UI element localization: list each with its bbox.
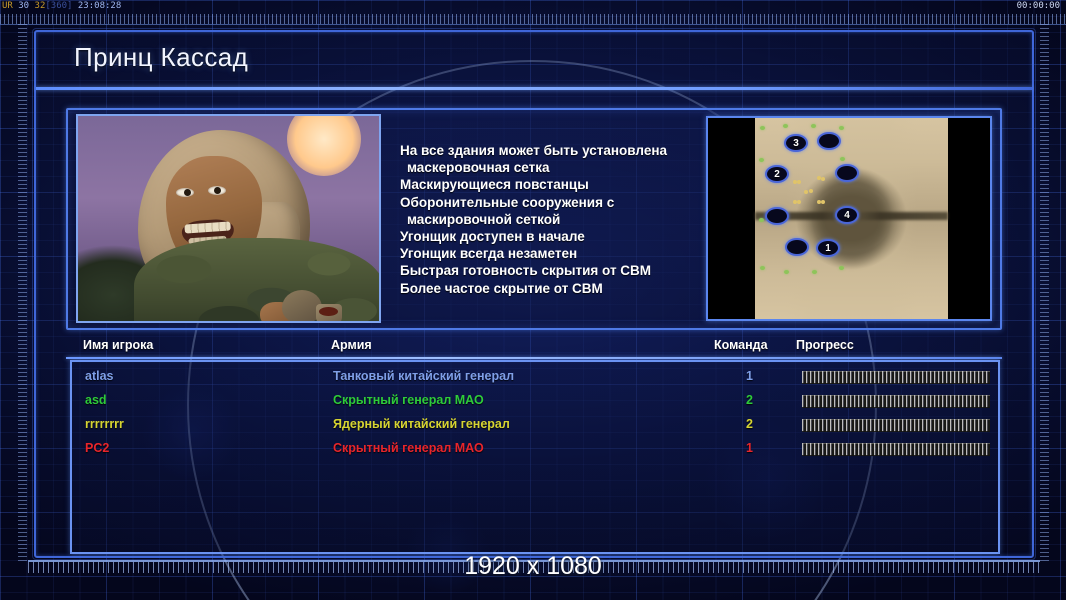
- minimap-start-position: 3: [784, 134, 808, 152]
- player-progress-bar: [802, 419, 990, 432]
- game-lobby-screen: UR 30 32[360] 23:08:28 00:00:00 Принц Ка…: [0, 0, 1066, 600]
- player-army: Танковый китайский генерал: [333, 369, 514, 383]
- minimap-preview: 3241: [706, 116, 992, 321]
- minimap-supply-marker: [840, 157, 845, 161]
- minimap-supply-marker: [812, 270, 817, 274]
- minimap-oil-marker: [797, 180, 801, 184]
- minimap-supply-marker: [811, 124, 816, 128]
- player-team: 2: [746, 417, 753, 431]
- column-header-team: Команда: [714, 338, 768, 352]
- general-portrait: [76, 114, 381, 323]
- description-line: На все здания может быть установлена: [400, 142, 700, 159]
- column-header-army: Армия: [331, 338, 372, 352]
- minimap-supply-marker: [839, 266, 844, 270]
- minimap-supply-marker: [759, 218, 764, 222]
- minimap-start-position: 1: [816, 239, 840, 257]
- resolution-label: 1920 x 1080: [0, 552, 1066, 581]
- title-underline: [36, 87, 1032, 90]
- minimap-supply-marker: [760, 266, 765, 270]
- general-description: На все здания может быть установленамаск…: [400, 142, 700, 297]
- player-name: asd: [85, 393, 107, 407]
- pupil-right: [214, 187, 221, 194]
- minimap-supply-marker: [783, 124, 788, 128]
- description-line: Маскирующиеся повстанцы: [400, 176, 700, 193]
- hud-clock: 23:08:28: [78, 1, 121, 11]
- minimap-oil-marker: [821, 177, 825, 181]
- description-line: Угонщик всегда незаметен: [400, 245, 700, 262]
- header-underline: [66, 357, 1002, 359]
- minimap-supply-marker: [784, 270, 789, 274]
- minimap-terrain: 3241: [755, 118, 948, 319]
- hud-timer-right: 00:00:00: [1017, 1, 1060, 11]
- minimap-supply-marker: [839, 126, 844, 130]
- minimap-supply-marker: [760, 126, 765, 130]
- hud-bracket: [360]: [45, 1, 72, 11]
- teacup: [316, 304, 342, 323]
- minimap-start-position: [765, 207, 789, 225]
- minimap-start-position: 2: [765, 165, 789, 183]
- hud-value-1: 30: [18, 1, 29, 11]
- column-header-progress: Прогресс: [796, 338, 854, 352]
- player-table-header: Имя игрока Армия Команда Прогресс: [66, 338, 1002, 358]
- player-team: 2: [746, 393, 753, 407]
- player-army: Скрытный генерал МАО: [333, 441, 484, 455]
- player-team: 1: [746, 441, 753, 455]
- minimap-start-position: 4: [835, 206, 859, 224]
- player-progress-bar: [802, 395, 990, 408]
- camo-uniform: [134, 238, 381, 323]
- minimap-oil-marker: [797, 200, 801, 204]
- teeth-upper: [184, 221, 231, 233]
- page-title: Принц Кассад: [74, 42, 248, 73]
- description-line: маскировочной сеткой: [400, 211, 700, 228]
- player-name: PC2: [85, 441, 109, 455]
- hud-status-left: UR 30 32[360] 23:08:28: [2, 1, 121, 11]
- table-row[interactable]: PC2Скрытный генерал МАО1: [72, 438, 998, 462]
- table-row[interactable]: atlasТанковый китайский генерал1: [72, 366, 998, 390]
- description-line: Угонщик доступен в начале: [400, 228, 700, 245]
- pupil-left: [184, 189, 191, 196]
- column-header-name: Имя игрока: [83, 338, 153, 352]
- ruler-top-line: [0, 24, 1066, 25]
- table-row[interactable]: asdСкрытный генерал МАО2: [72, 390, 998, 414]
- description-line: Более частое скрытие от СВМ: [400, 280, 700, 297]
- player-army: Скрытный генерал МАО: [333, 393, 484, 407]
- minimap-oil-marker: [804, 190, 808, 194]
- minimap-oil-marker: [809, 189, 813, 193]
- portrait-figure: [130, 130, 320, 323]
- description-line: Быстрая готовность скрытия от СВМ: [400, 262, 700, 279]
- minimap-oil-marker: [821, 200, 825, 204]
- player-team: 1: [746, 369, 753, 383]
- player-progress-bar: [802, 443, 990, 456]
- table-row[interactable]: rrrrrrrrЯдерный китайский генерал2: [72, 414, 998, 438]
- hud-prefix: UR: [2, 1, 13, 11]
- minimap-start-position: [785, 238, 809, 256]
- minimap-start-position: [817, 132, 841, 150]
- player-progress-bar: [802, 371, 990, 384]
- description-line: маскеровочная сетка: [400, 159, 700, 176]
- description-line: Оборонительные сооружения с: [400, 194, 700, 211]
- player-name: rrrrrrrr: [85, 417, 124, 431]
- ruler-top: [0, 14, 1066, 24]
- player-name: atlas: [85, 369, 114, 383]
- minimap-supply-marker: [759, 158, 764, 162]
- player-list-panel: atlasТанковый китайский генерал1asdСкрыт…: [70, 360, 1000, 554]
- ruler-right: [1040, 24, 1049, 562]
- ruler-left: [18, 24, 27, 562]
- player-army: Ядерный китайский генерал: [333, 417, 510, 431]
- hud-value-2: 32: [35, 1, 46, 11]
- minimap-start-position: [835, 164, 859, 182]
- title-bar: Принц Кассад: [36, 32, 1032, 88]
